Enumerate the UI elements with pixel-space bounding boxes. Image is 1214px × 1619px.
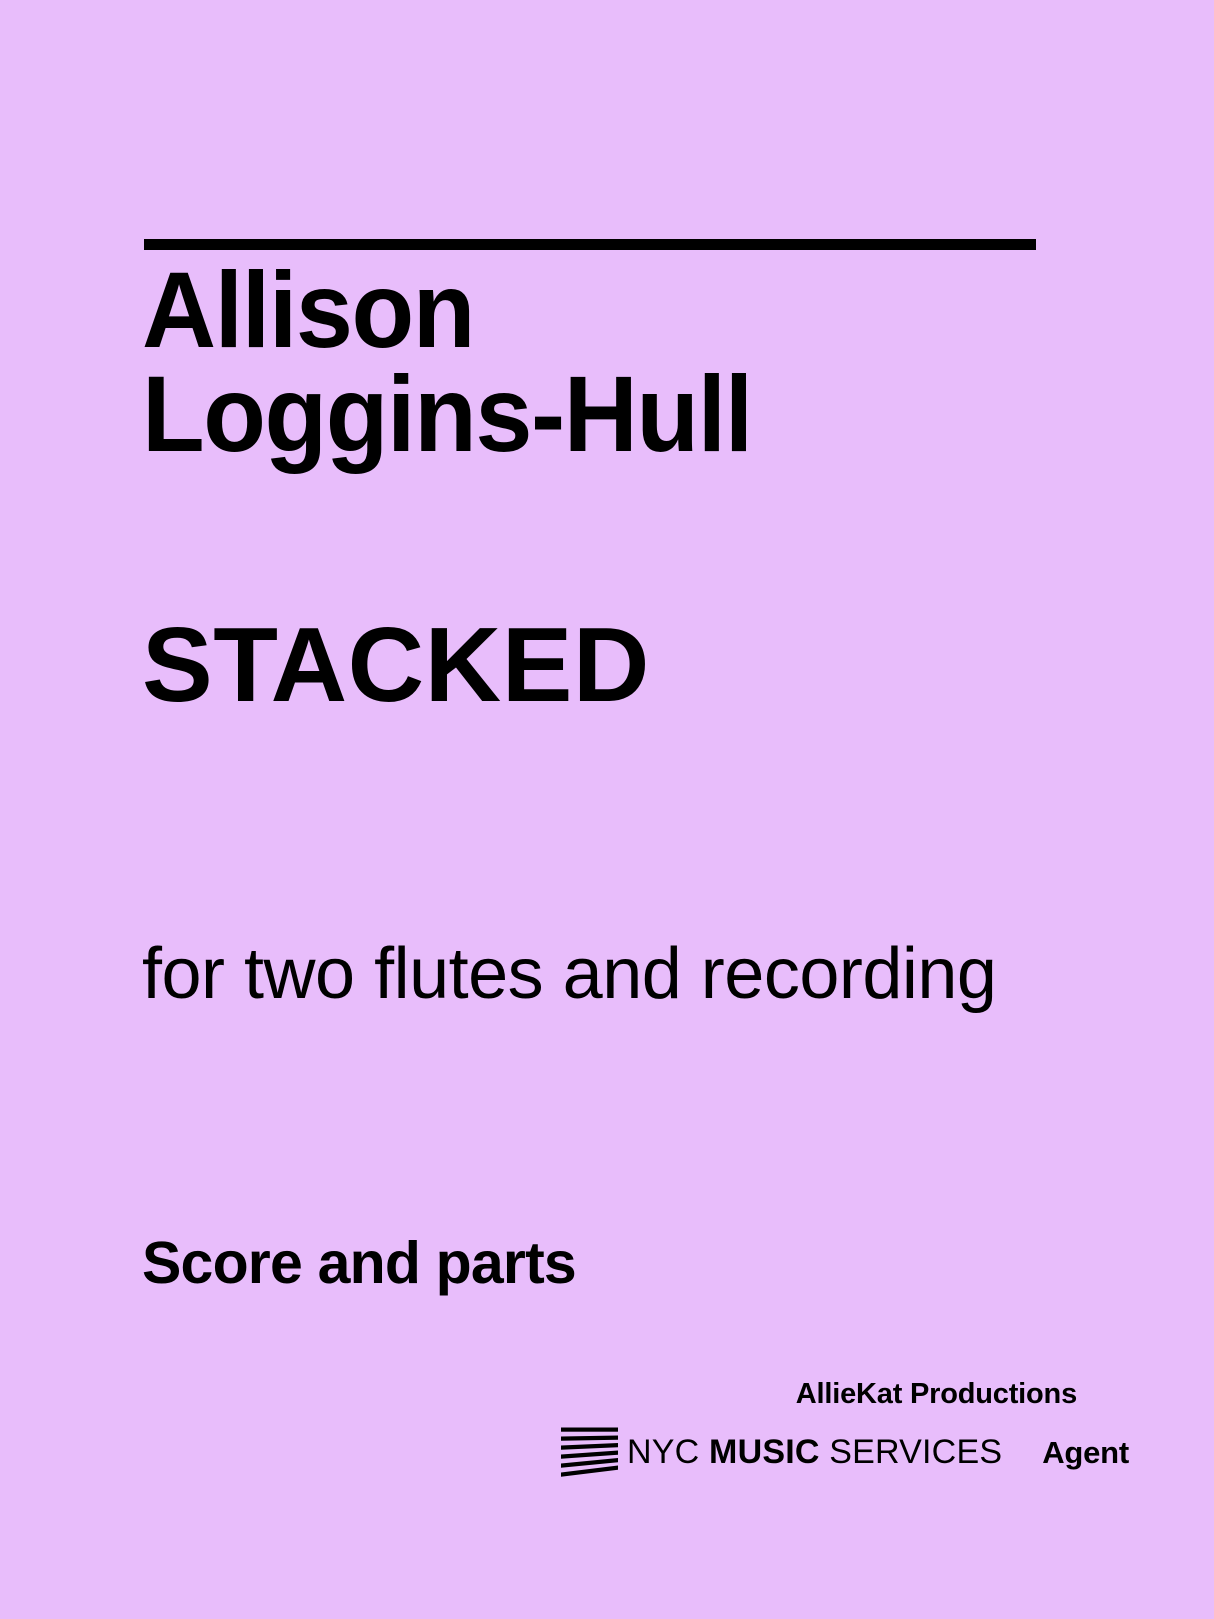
agent-logo-wordmark: NYC MUSIC SERVICES — [627, 1435, 1002, 1469]
credits-block: AllieKat Productions NYC MUSIC SERVICES … — [560, 1378, 1080, 1498]
logo-word-nyc: NYC — [627, 1433, 699, 1471]
agent-logo-row: NYC MUSIC SERVICES Agent — [560, 1426, 1129, 1478]
logo-word-services: SERVICES — [829, 1433, 1002, 1471]
edition-label: Score and parts — [142, 1234, 576, 1293]
instrumentation-subtitle: for two flutes and recording — [142, 938, 996, 1010]
logo-word-space-2 — [820, 1433, 830, 1471]
publisher-name: AllieKat Productions — [796, 1378, 1077, 1411]
agent-role-label: Agent — [1042, 1437, 1129, 1468]
logo-word-music: MUSIC — [709, 1433, 820, 1471]
score-cover-page: Allison Loggins-Hull STACKED for two flu… — [0, 0, 1214, 1619]
nyc-music-services-logo-icon — [560, 1426, 620, 1478]
composer-name-line-2: Loggins-Hull — [142, 362, 1054, 466]
work-title: STACKED — [142, 612, 650, 718]
composer-name: Allison Loggins-Hull — [142, 258, 1054, 465]
composer-name-line-1: Allison — [142, 258, 1054, 362]
logo-word-space-1 — [699, 1433, 709, 1471]
